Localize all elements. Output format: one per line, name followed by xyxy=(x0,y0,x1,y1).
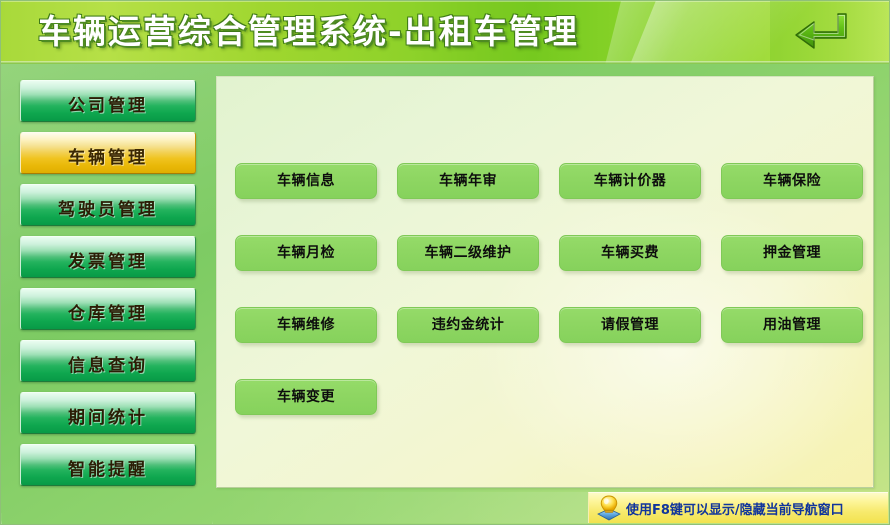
button-label: 用油管理 xyxy=(722,308,862,342)
sidebar-item-label: 仓库管理 xyxy=(21,299,195,324)
button-vehicle-monthly-inspection[interactable]: 车辆月检 xyxy=(235,235,377,271)
button-label: 车辆变更 xyxy=(236,380,376,414)
page-title: 车辆运营综合管理系统-出租车管理 xyxy=(38,8,579,56)
return-arrow-icon[interactable] xyxy=(794,10,858,54)
application-window: 车辆运营综合管理系统-出租车管理 公司管理 车辆管理 xyxy=(0,0,890,525)
title-bar-sheen-b xyxy=(591,0,698,64)
button-vehicle-repair[interactable]: 车辆维修 xyxy=(235,307,377,343)
status-hint-text: 使用F8键可以显示/隐藏当前导航窗口 xyxy=(626,499,844,518)
sidebar-item-label: 发票管理 xyxy=(21,247,195,272)
sidebar-item-label: 车辆管理 xyxy=(21,143,195,168)
sidebar-item-period-statistics[interactable]: 期间统计 xyxy=(20,392,196,434)
button-vehicle-insurance[interactable]: 车辆保险 xyxy=(721,163,863,199)
button-label: 车辆买费 xyxy=(560,236,700,270)
title-bar-bottom-edge xyxy=(0,61,890,64)
button-label: 车辆计价器 xyxy=(560,164,700,198)
button-label: 车辆信息 xyxy=(236,164,376,198)
sidebar-item-inquiry[interactable]: 信息查询 xyxy=(20,340,196,382)
sidebar-item-label: 智能提醒 xyxy=(21,455,195,480)
button-leave-management[interactable]: 请假管理 xyxy=(559,307,701,343)
button-vehicle-info[interactable]: 车辆信息 xyxy=(235,163,377,199)
title-bar: 车辆运营综合管理系统-出租车管理 xyxy=(0,0,890,64)
button-label: 押金管理 xyxy=(722,236,862,270)
sidebar-item-warehouse[interactable]: 仓库管理 xyxy=(20,288,196,330)
button-vehicle-annual-inspection[interactable]: 车辆年审 xyxy=(397,163,539,199)
button-label: 车辆年审 xyxy=(398,164,538,198)
sidebar-item-label: 驾驶员管理 xyxy=(21,195,195,220)
sidebar-item-label: 期间统计 xyxy=(21,403,195,428)
main-content-panel: 车辆信息 车辆年审 车辆计价器 车辆保险 车辆月检 车辆二级维护 车辆买费 xyxy=(216,76,874,488)
sidebar-item-label: 公司管理 xyxy=(21,91,195,116)
button-vehicle-level2-maintenance[interactable]: 车辆二级维护 xyxy=(397,235,539,271)
function-button-grid: 车辆信息 车辆年审 车辆计价器 车辆保险 车辆月检 车辆二级维护 车辆买费 xyxy=(217,77,873,487)
button-deposit-management[interactable]: 押金管理 xyxy=(721,235,863,271)
lightbulb-icon xyxy=(595,494,623,522)
button-penalty-statistics[interactable]: 违约金统计 xyxy=(397,307,539,343)
button-vehicle-change[interactable]: 车辆变更 xyxy=(235,379,377,415)
status-bar: 使用F8键可以显示/隐藏当前导航窗口 xyxy=(588,492,888,523)
title-bar-top-edge xyxy=(0,0,890,2)
sidebar-item-driver[interactable]: 驾驶员管理 xyxy=(20,184,196,226)
button-label: 车辆保险 xyxy=(722,164,862,198)
button-label: 车辆月检 xyxy=(236,236,376,270)
navigation-sidebar: 公司管理 车辆管理 驾驶员管理 发票管理 仓库管理 信息查询 期间统计 智能提醒 xyxy=(1,66,213,524)
button-label: 车辆二级维护 xyxy=(398,236,538,270)
button-label: 车辆维修 xyxy=(236,308,376,342)
sidebar-item-vehicle[interactable]: 车辆管理 xyxy=(20,132,196,174)
status-bar-filler xyxy=(216,492,588,523)
button-vehicle-purchase-fee[interactable]: 车辆买费 xyxy=(559,235,701,271)
sidebar-item-smart-reminder[interactable]: 智能提醒 xyxy=(20,444,196,486)
button-label: 违约金统计 xyxy=(398,308,538,342)
button-vehicle-taximeter[interactable]: 车辆计价器 xyxy=(559,163,701,199)
sidebar-item-invoice[interactable]: 发票管理 xyxy=(20,236,196,278)
sidebar-item-company[interactable]: 公司管理 xyxy=(20,80,196,122)
button-fuel-management[interactable]: 用油管理 xyxy=(721,307,863,343)
button-label: 请假管理 xyxy=(560,308,700,342)
sidebar-item-label: 信息查询 xyxy=(21,351,195,376)
